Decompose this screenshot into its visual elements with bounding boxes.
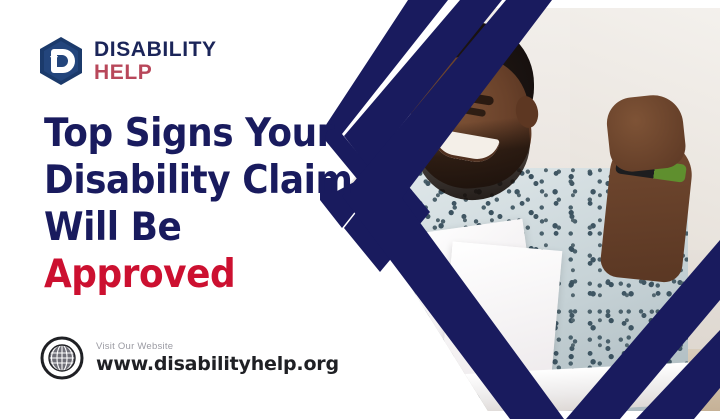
headline-line-2: Disability Claim: [44, 157, 348, 204]
brand-logo[interactable]: DISABILITY HELP: [38, 36, 217, 86]
brand-wordmark: DISABILITY HELP: [94, 39, 217, 83]
photo-subject-fist: [604, 92, 687, 174]
headline-line-4-accent: Approved: [44, 251, 348, 298]
hero-photo: [320, 0, 720, 419]
brand-line-disability: DISABILITY: [94, 39, 217, 60]
headline-line-1: Top Signs Your: [44, 110, 348, 157]
photo-background: [320, 0, 720, 419]
thumbnail-canvas: DISABILITY HELP Top Signs Your Disabilit…: [0, 0, 720, 419]
page-title: Top Signs Your Disability Claim Will Be …: [44, 110, 374, 298]
website-eyebrow: Visit Our Website: [96, 342, 339, 352]
website-text-group: Visit Our Website www.disabilityhelp.org: [96, 342, 339, 375]
globe-icon: [40, 336, 84, 380]
headline-line-3: Will Be: [44, 204, 348, 251]
website-url[interactable]: www.disabilityhelp.org: [96, 355, 339, 374]
website-callout[interactable]: Visit Our Website www.disabilityhelp.org: [40, 336, 339, 380]
hexagon-d-logo-icon: [38, 36, 84, 86]
hero-artwork: [320, 0, 720, 419]
brand-line-help: HELP: [94, 62, 217, 83]
